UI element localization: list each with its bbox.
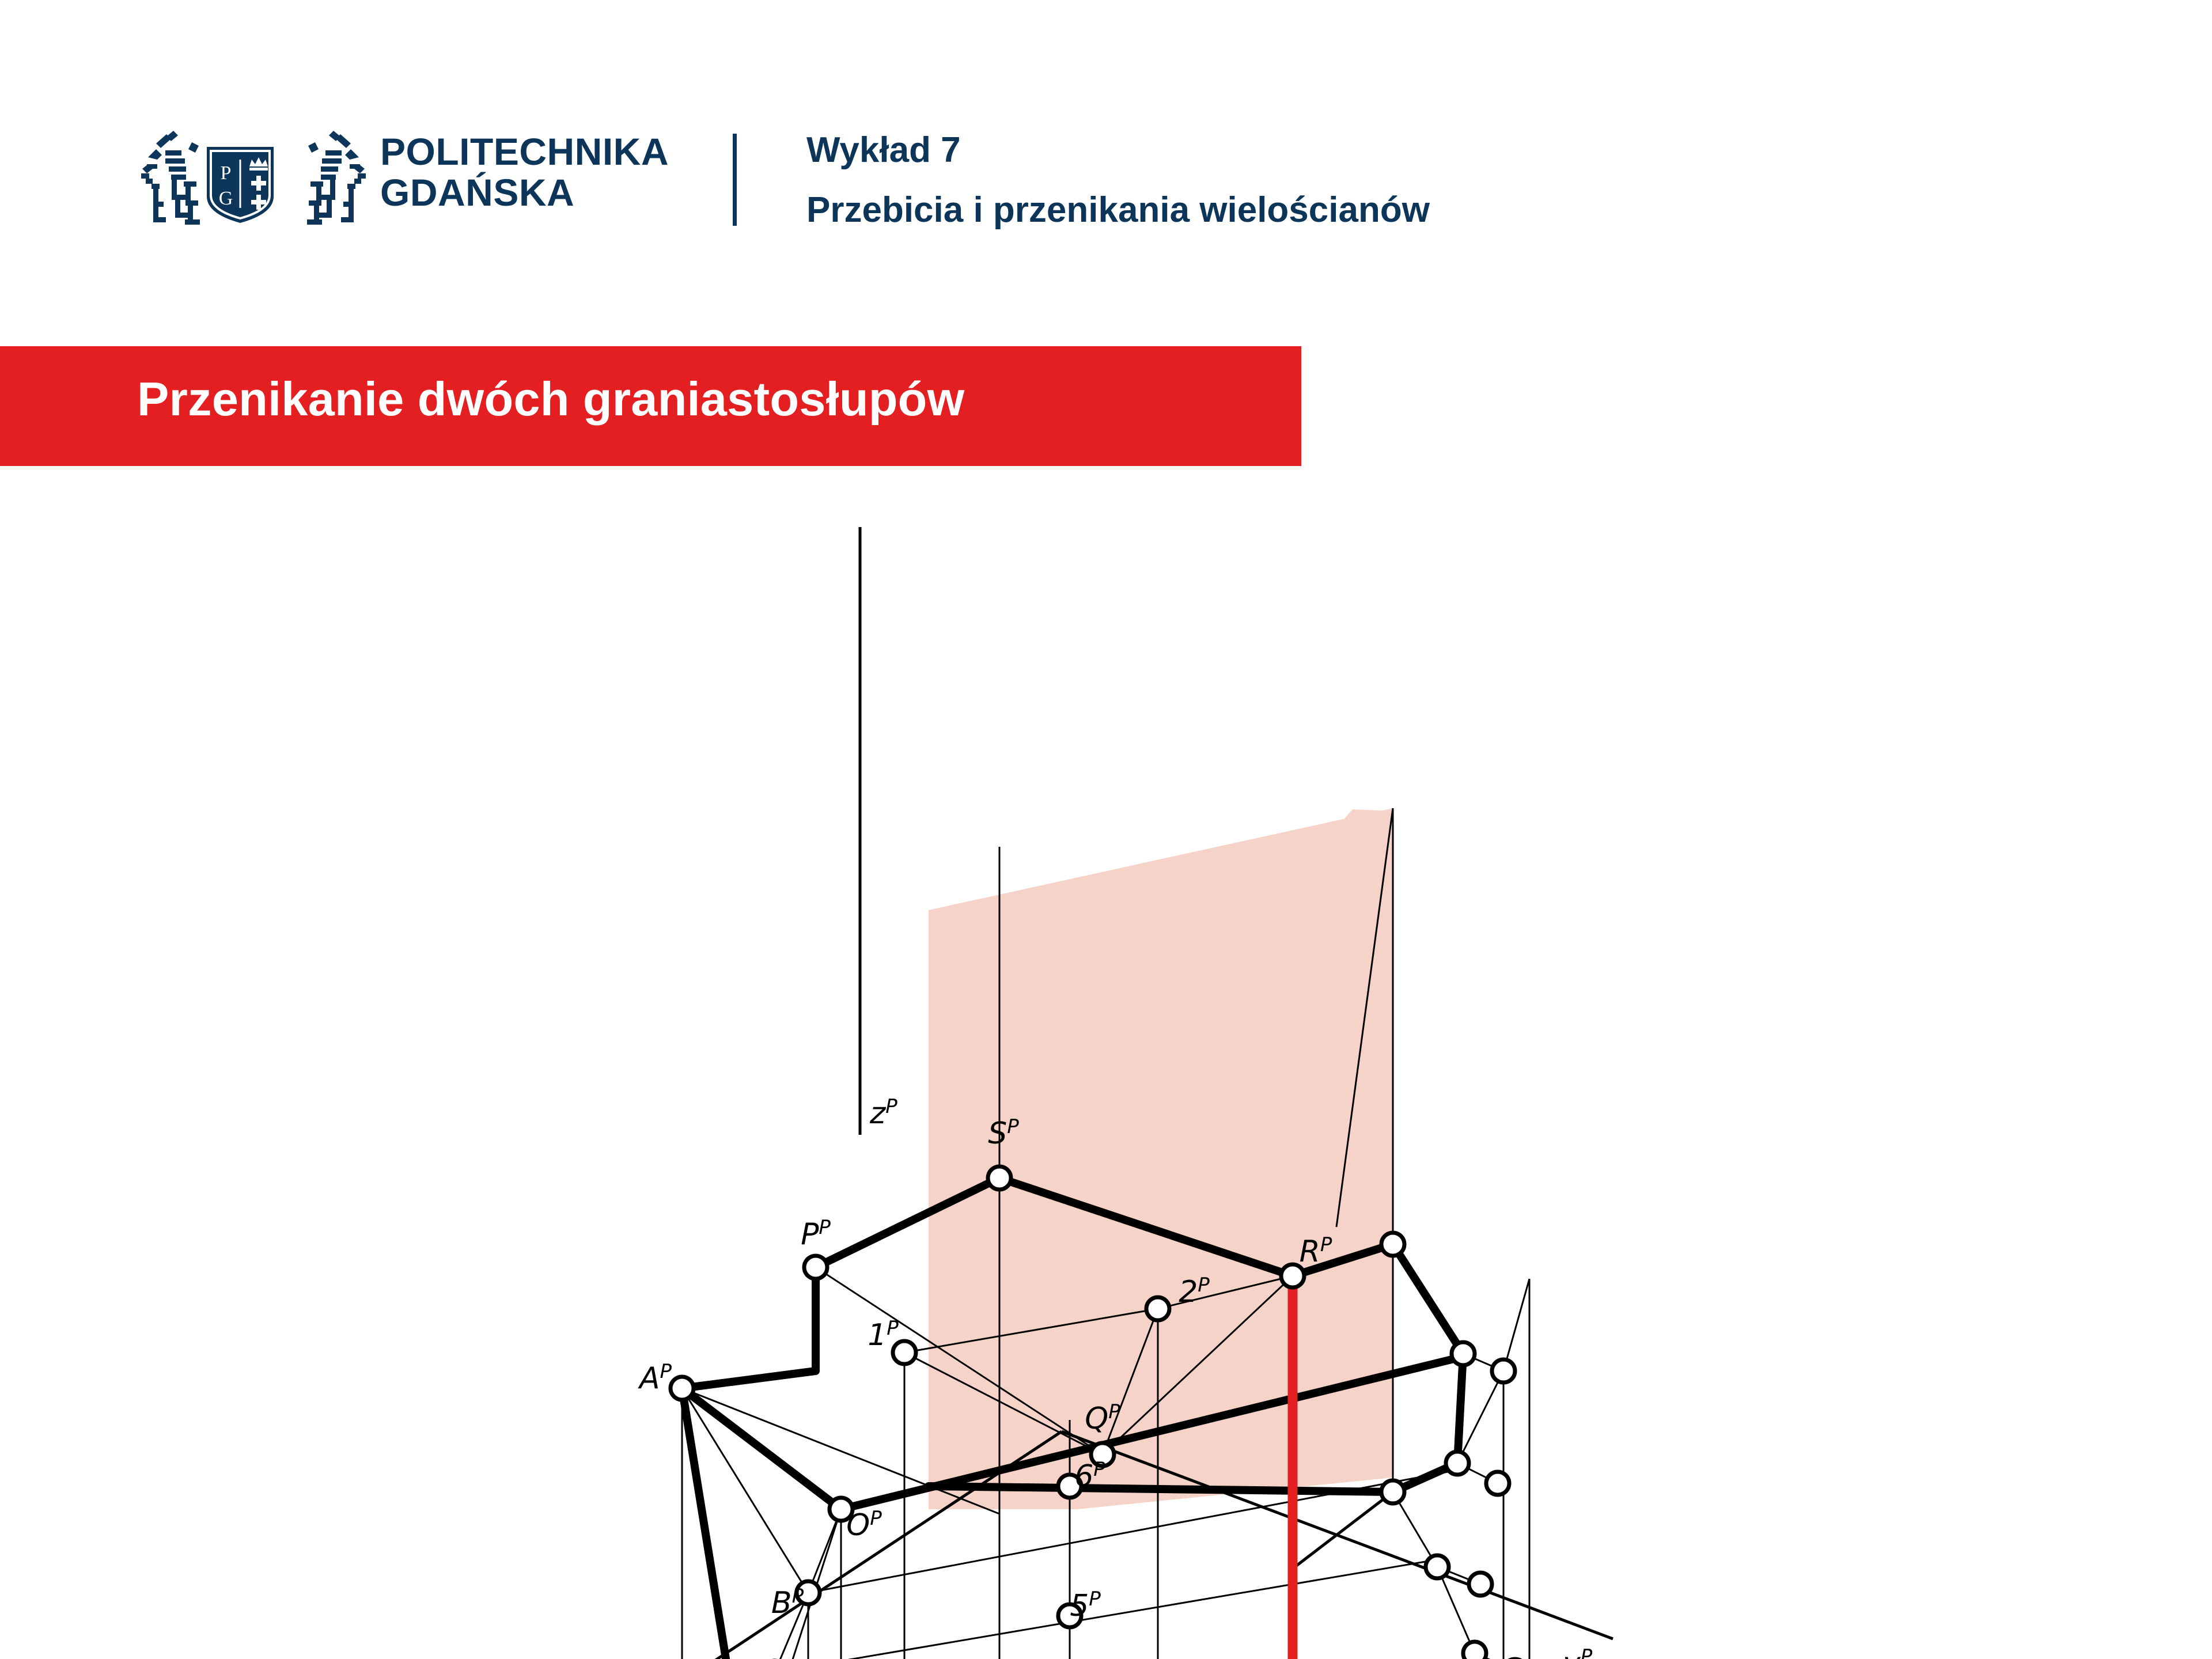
label-PP: PP xyxy=(801,1216,831,1252)
node-far-right-a xyxy=(1492,1359,1515,1382)
label-AP: AP xyxy=(638,1360,672,1396)
node-AP xyxy=(671,1377,694,1400)
university-wordmark: POLITECHNIKA GDAŃSKA xyxy=(380,131,669,213)
university-name-line2: GDAŃSKA xyxy=(380,172,669,213)
slide-title-bar: Przenikanie dwóch graniastosłupów xyxy=(0,346,1301,466)
diagram-area: .thin { stroke:#000; stroke-width:3; fil… xyxy=(0,472,2212,1659)
shield-letter-g: G xyxy=(219,188,233,209)
node-2P xyxy=(1146,1297,1169,1320)
lecture-topic: Przebicia i przenikania wielościanów xyxy=(806,192,1430,228)
right-lion-icon xyxy=(307,131,366,225)
lecture-heading: Wykład 7 Przebicia i przenikania wielośc… xyxy=(806,132,1430,228)
label-zP: zP xyxy=(869,1095,897,1131)
node-1P xyxy=(893,1341,916,1364)
left-lion-icon xyxy=(141,131,200,225)
shield-letter-p: P xyxy=(221,162,232,184)
node-SP xyxy=(988,1166,1011,1190)
node-PP xyxy=(804,1256,827,1279)
politechnika-gdanska-logo: P G xyxy=(135,124,372,228)
page-header: P G xyxy=(0,0,2212,323)
node-topright xyxy=(1381,1233,1404,1256)
node-far-right-b xyxy=(1486,1472,1509,1495)
slide-title: Przenikanie dwóch graniastosłupów xyxy=(137,372,964,427)
lecture-number: Wykład 7 xyxy=(806,132,1430,168)
label-yP: yP xyxy=(1562,1645,1593,1659)
node-far-right-d xyxy=(1469,1573,1492,1596)
node-far-right-e xyxy=(1463,1642,1486,1659)
pg-shield-icon: P G xyxy=(207,147,274,223)
node-right-mid xyxy=(1446,1452,1469,1475)
node-far-right-c xyxy=(1426,1555,1449,1578)
pg-crest-icon: P G xyxy=(135,124,372,228)
university-name-line1: POLITECHNIKA xyxy=(380,131,669,172)
axonometric-projection-diagram: .thin { stroke:#000; stroke-width:3; fil… xyxy=(0,472,2212,1659)
node-right-upper xyxy=(1452,1342,1475,1365)
label-OP: OP xyxy=(846,1507,882,1543)
header-divider xyxy=(733,134,737,226)
node-right-lower xyxy=(1381,1480,1404,1503)
